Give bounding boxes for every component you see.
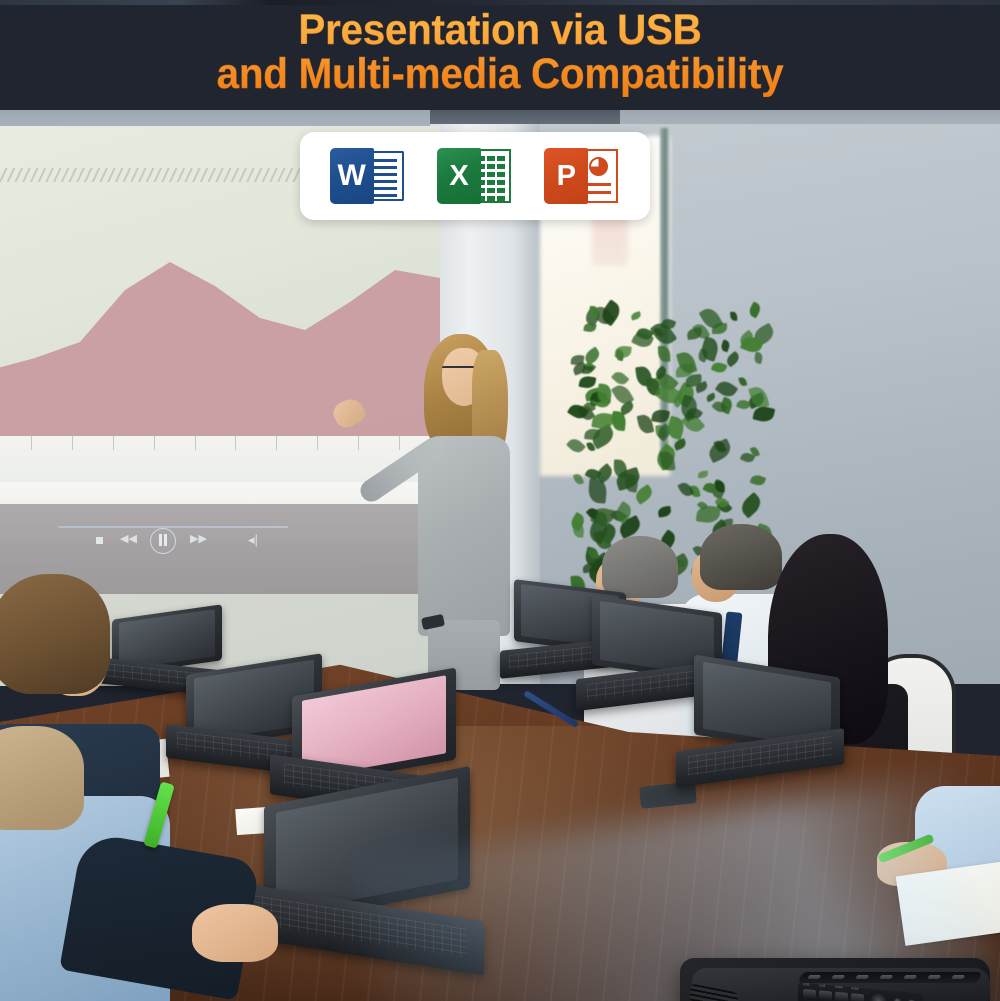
projector-button[interactable]: [831, 975, 845, 979]
plant-leaf: [615, 345, 632, 359]
excel-cell: [497, 156, 505, 161]
header-banner: Presentation via USB and Multi-media Com…: [0, 0, 1000, 110]
excel-cell: [497, 188, 505, 193]
projector-port-hdmi[interactable]: [851, 993, 864, 1001]
axis-tick: [154, 436, 155, 450]
excel-panel: X: [437, 148, 481, 204]
projector-button[interactable]: [855, 975, 869, 979]
excel-cell: [487, 172, 495, 177]
plant-leaf: [720, 339, 731, 352]
microsoft-powerpoint-icon: P: [540, 145, 624, 207]
plant-leaf: [651, 408, 670, 423]
excel-cell: [487, 164, 495, 169]
plant-leaf: [573, 472, 585, 485]
plant-leaf: [731, 311, 738, 321]
page-title: Presentation via USB and Multi-media Com…: [30, 8, 970, 97]
word-letter: W: [337, 161, 365, 191]
plant-leaf: [698, 470, 708, 478]
title-line-2: and Multi-media Compatibility: [30, 52, 970, 96]
excel-cell: [487, 188, 495, 193]
word-panel: W: [330, 148, 374, 204]
projector-port-usb[interactable]: [819, 990, 832, 1001]
fast-forward-icon[interactable]: ▶▶: [190, 534, 207, 545]
plant-leaf: [581, 366, 593, 375]
excel-cell: [497, 180, 505, 185]
excel-cell: [487, 180, 495, 185]
volume-icon[interactable]: ◂|: [248, 533, 258, 546]
stop-icon[interactable]: [96, 537, 103, 544]
excel-cell: [497, 172, 505, 177]
plant-leaf: [738, 376, 747, 387]
powerpoint-panel: P: [544, 148, 588, 204]
projector-port-av[interactable]: [870, 993, 887, 1001]
axis-tick: [72, 436, 73, 450]
laptop-1-keyboard: [253, 895, 466, 958]
projector-button[interactable]: [951, 975, 965, 979]
laptop-7: [676, 666, 842, 782]
axis-tick: [31, 436, 32, 450]
port-label: HDMI: [851, 986, 859, 991]
excel-letter: X: [449, 162, 468, 191]
projector-button[interactable]: [927, 975, 941, 979]
projector-body: USBUSBHDMIHDMI: [680, 958, 990, 1001]
portable-projector: USBUSBHDMIHDMI: [672, 936, 1000, 1001]
excel-cell: [497, 196, 505, 201]
excel-cell: [497, 164, 505, 169]
pause-icon[interactable]: [150, 528, 176, 554]
plant-leaf: [738, 492, 765, 519]
plant-leaf: [566, 437, 586, 456]
excel-cell: [487, 156, 495, 161]
plant-leaf: [748, 301, 763, 318]
attendee-foreground-2: [0, 726, 230, 1001]
powerpoint-letter: P: [557, 162, 576, 191]
axis-tick: [235, 436, 236, 450]
projected-area-chart: [0, 246, 440, 446]
port-label: HDMI: [835, 985, 843, 990]
plant-leaf: [749, 472, 766, 487]
plant-leaf: [658, 345, 671, 362]
projector-button[interactable]: [903, 975, 917, 979]
attendee-fg2-hair: [0, 726, 84, 830]
microsoft-word-icon: W: [326, 145, 410, 207]
presenter-jacket: [418, 436, 510, 636]
title-line-1: Presentation via USB: [30, 8, 970, 52]
plant-leaf: [658, 506, 672, 517]
projector-control-strip[interactable]: [797, 972, 982, 983]
plant-leaf: [711, 360, 728, 375]
axis-tick: [113, 436, 114, 450]
projector-button[interactable]: [807, 975, 821, 979]
rewind-icon[interactable]: ◀◀: [120, 534, 137, 545]
pie-chart-icon: [589, 157, 608, 176]
attendee-fg1-hair: [0, 574, 110, 694]
glasses-icon: [442, 366, 476, 376]
laptop-7-keyboard: [688, 736, 832, 776]
area-chart-svg: [0, 246, 440, 446]
projector-button[interactable]: [879, 975, 893, 979]
port-label: USB: [819, 983, 825, 988]
plant-leaf: [753, 351, 764, 364]
banner-top-strip: [0, 0, 1000, 5]
axis-tick: [276, 436, 277, 450]
product-marketing-image: Presentation via USB and Multi-media Com…: [0, 0, 1000, 1001]
projector-port-usb[interactable]: [803, 989, 816, 1001]
plant-leaf: [588, 479, 608, 504]
microsoft-excel-icon: X: [433, 145, 517, 207]
plant-leaf: [583, 322, 596, 333]
plant-leaf: [736, 399, 751, 412]
port-label: USB: [803, 982, 809, 987]
plant-leaf: [686, 327, 702, 340]
plant-leaf: [578, 375, 596, 390]
conference-room-photo: ◀◀ ▶▶ ◂|: [0, 106, 1000, 1001]
plant-leaf: [705, 392, 716, 402]
plant-leaf: [705, 438, 733, 464]
axis-tick: [195, 436, 196, 450]
axis-tick: [358, 436, 359, 450]
excel-cell: [487, 196, 495, 201]
attendee-fg2-hand: [192, 904, 278, 962]
projector-port-hdmi[interactable]: [835, 992, 848, 1001]
progress-bar[interactable]: [58, 526, 288, 528]
office-compatibility-card: W X P: [300, 132, 650, 220]
plant-leaf: [630, 310, 642, 320]
plant-leaf: [677, 480, 695, 499]
plant-leaf: [673, 439, 687, 451]
axis-tick: [317, 436, 318, 450]
